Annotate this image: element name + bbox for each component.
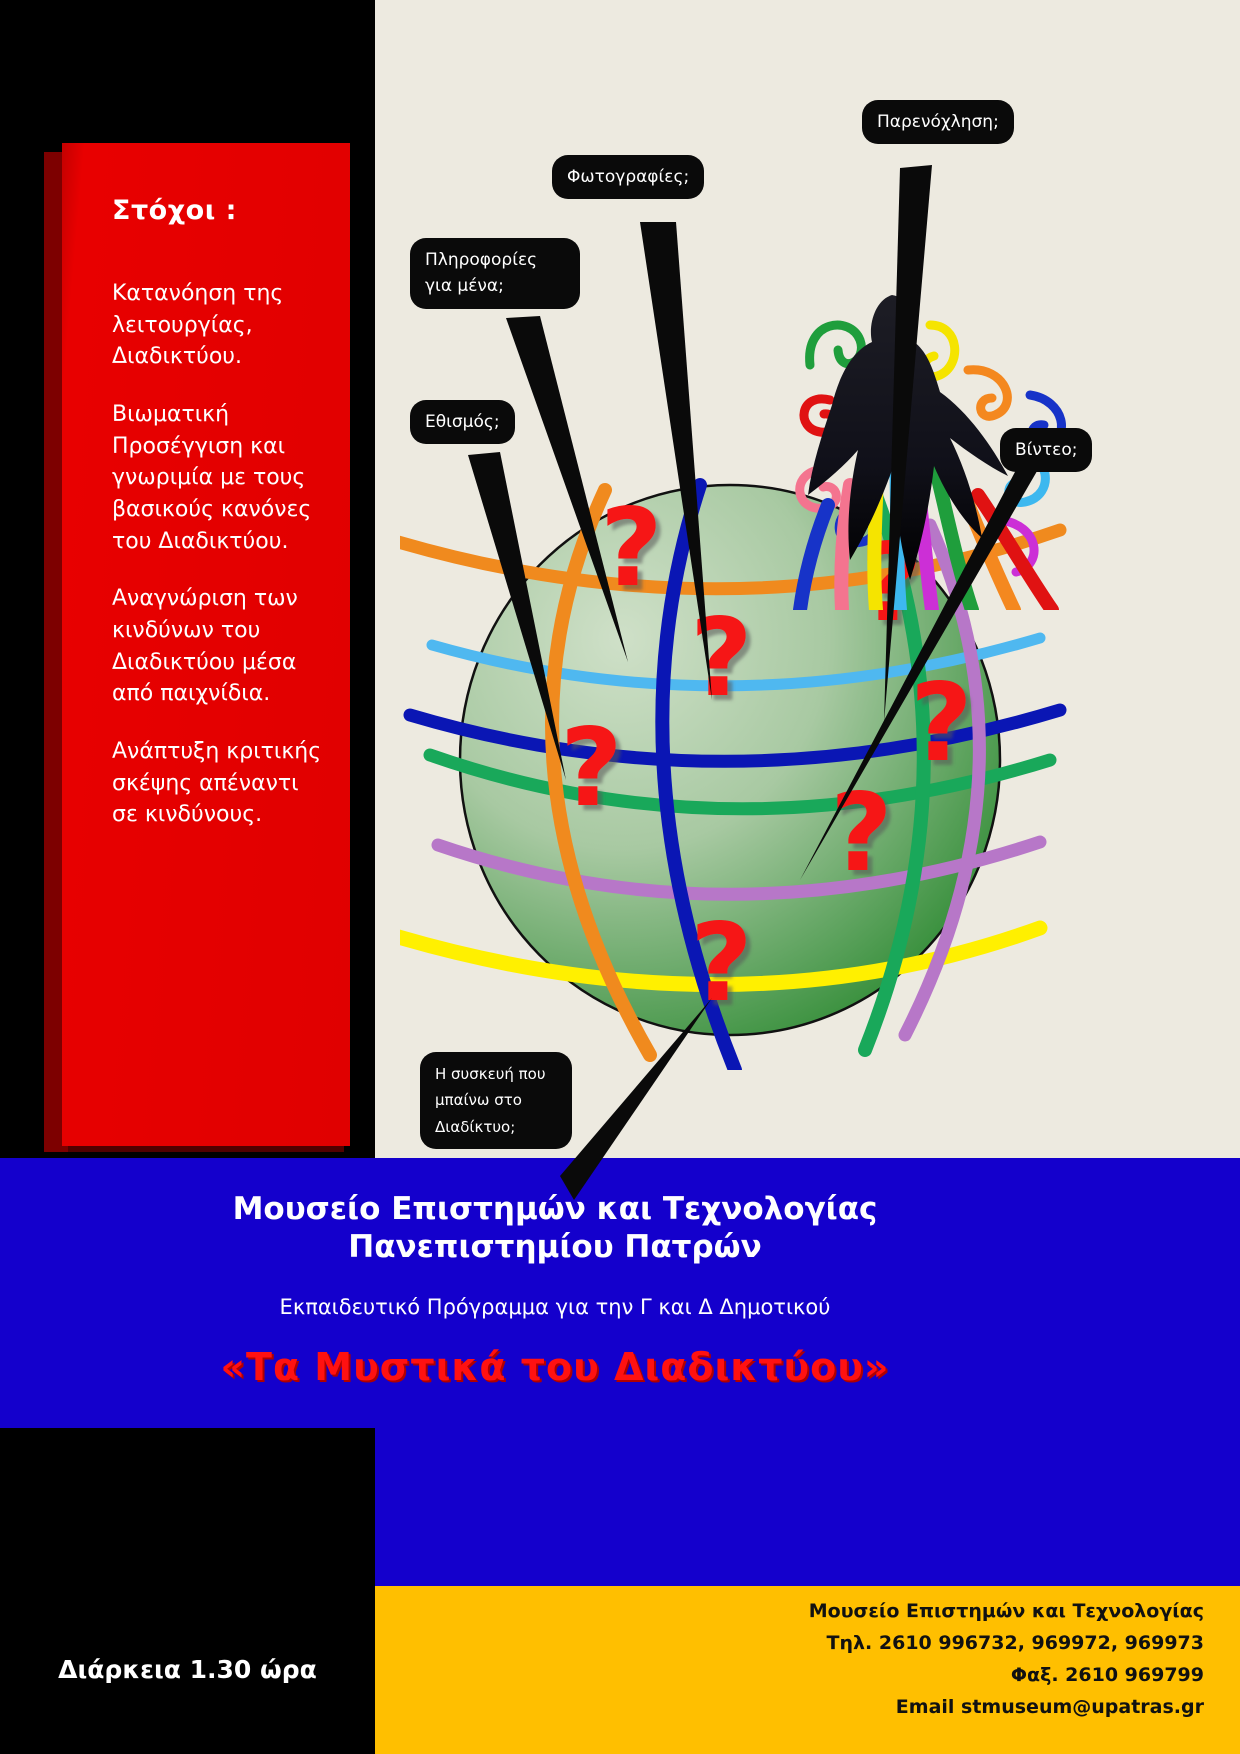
bubble-device[interactable]: Η συσκευή που μπαίνω στο Διαδίκτυο; [420, 1052, 572, 1149]
contact-email[interactable]: Email stmuseum@upatras.gr [504, 1692, 1204, 1724]
pointer-device [560, 998, 712, 1200]
poster-root: Στόχοι : Κατανόηση της λειτουργίας, Διαδ… [0, 0, 1240, 1754]
footer-blue-band-lower [375, 1428, 1240, 1586]
duration-label: Διάρκεια 1.30 ώρα [0, 1655, 375, 1684]
pointer-video [800, 466, 1040, 880]
bubble-info-about-me[interactable]: Πληροφορίες για μένα; [410, 238, 580, 309]
pointer-addiction [468, 452, 566, 780]
bubble-video[interactable]: Βίντεο; [1000, 428, 1092, 472]
footer-left-black-panel [0, 1428, 375, 1754]
bubble-photos[interactable]: Φωτογραφίες; [552, 155, 704, 199]
contact-fax: Φαξ. 2610 969799 [504, 1660, 1204, 1692]
program-main-title: «Τα Μυστικά του Διαδικτύου» [0, 1345, 1110, 1389]
pointer-harassment [884, 165, 932, 722]
bubble-harassment[interactable]: Παρενόχληση; [862, 100, 1014, 144]
contact-info: Μουσείο Επιστημών και Τεχνολογίας Τηλ. 2… [504, 1596, 1204, 1724]
bubble-addiction[interactable]: Εθισμός; [410, 400, 515, 444]
contact-phone: Τηλ. 2610 996732, 969972, 969973 [504, 1628, 1204, 1660]
contact-museum-name: Μουσείο Επιστημών και Τεχνολογίας [504, 1596, 1204, 1628]
pointer-photos [640, 222, 712, 700]
